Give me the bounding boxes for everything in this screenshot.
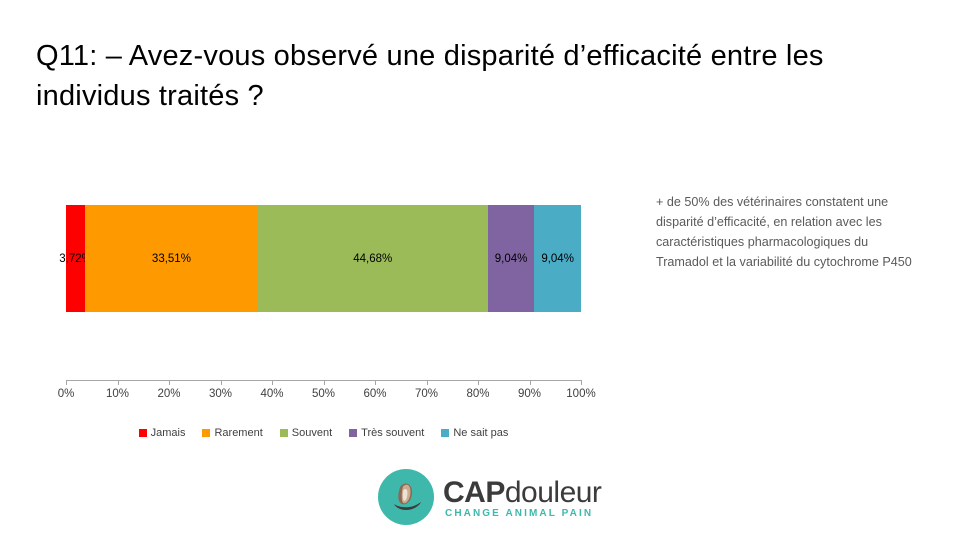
legend-label: Rarement	[214, 427, 262, 439]
axis-tick-mark	[375, 380, 376, 385]
chart-legend: JamaisRarementSouventTrès souventNe sait…	[66, 427, 581, 439]
legend-item[interactable]: Jamais	[139, 427, 186, 439]
bar-segment-label: 33,51%	[152, 253, 191, 265]
axis-tick-mark	[530, 380, 531, 385]
legend-item[interactable]: Souvent	[280, 427, 332, 439]
axis-tick-mark	[221, 380, 222, 385]
legend-label: Très souvent	[361, 427, 424, 439]
legend-swatch-icon	[349, 429, 357, 437]
capdouleur-logo-icon	[378, 469, 434, 525]
axis-tick-label: 60%	[363, 388, 386, 400]
bar-segment: 3,72%	[66, 205, 85, 312]
legend-swatch-icon	[441, 429, 449, 437]
legend-item[interactable]: Ne sait pas	[441, 427, 508, 439]
chart-x-axis: 0%10%20%30%40%50%60%70%80%90%100%	[66, 380, 581, 410]
axis-tick-label: 100%	[566, 388, 595, 400]
axis-tick-mark	[169, 380, 170, 385]
axis-tick-label: 40%	[260, 388, 283, 400]
capdouleur-logo-text: CAPdouleur CHANGE ANIMAL PAIN	[443, 475, 601, 520]
legend-item[interactable]: Très souvent	[349, 427, 424, 439]
chart-container: 3,72%33,51%44,68%9,04%9,04% 0%10%20%30%4…	[40, 190, 610, 450]
legend-label: Souvent	[292, 427, 332, 439]
axis-tick-mark	[581, 380, 582, 385]
axis-tick-mark	[118, 380, 119, 385]
side-annotation: + de 50% des vétérinaires constatent une…	[656, 192, 912, 272]
capdouleur-logo: CAPdouleur CHANGE ANIMAL PAIN	[378, 466, 583, 528]
bar-segment: 33,51%	[85, 205, 258, 312]
axis-tick-label: 10%	[106, 388, 129, 400]
axis-tick-mark	[427, 380, 428, 385]
axis-tick-label: 20%	[157, 388, 180, 400]
bar-segment-label: 44,68%	[353, 253, 392, 265]
legend-swatch-icon	[280, 429, 288, 437]
stacked-bar: 3,72%33,51%44,68%9,04%9,04%	[66, 205, 581, 312]
bar-segment: 9,04%	[488, 205, 535, 312]
logo-wordmark: CAPdouleur	[443, 477, 601, 508]
bar-segment-label: 9,04%	[495, 253, 528, 265]
axis-tick-label: 50%	[312, 388, 335, 400]
slide-canvas: Q11: – Avez-vous observé une disparité d…	[0, 0, 960, 540]
logo-wordmark-bold: CAP	[443, 476, 505, 509]
bar-segment-label: 9,04%	[541, 253, 574, 265]
axis-tick-label: 90%	[518, 388, 541, 400]
axis-tick-label: 80%	[466, 388, 489, 400]
bar-segment: 44,68%	[258, 205, 488, 312]
page-title: Q11: – Avez-vous observé une disparité d…	[36, 36, 906, 116]
logo-tagline: CHANGE ANIMAL PAIN	[443, 508, 601, 520]
legend-item[interactable]: Rarement	[202, 427, 262, 439]
legend-swatch-icon	[202, 429, 210, 437]
axis-tick-mark	[478, 380, 479, 385]
axis-tick-label: 0%	[58, 388, 75, 400]
axis-tick-mark	[272, 380, 273, 385]
bar-segment: 9,04%	[534, 205, 581, 312]
legend-label: Ne sait pas	[453, 427, 508, 439]
axis-tick-mark	[66, 380, 67, 385]
axis-tick-label: 70%	[415, 388, 438, 400]
axis-tick-mark	[324, 380, 325, 385]
legend-label: Jamais	[151, 427, 186, 439]
chart-plot-area: 3,72%33,51%44,68%9,04%9,04%	[66, 205, 581, 312]
logo-wordmark-light: douleur	[505, 476, 602, 509]
legend-swatch-icon	[139, 429, 147, 437]
axis-tick-label: 30%	[209, 388, 232, 400]
